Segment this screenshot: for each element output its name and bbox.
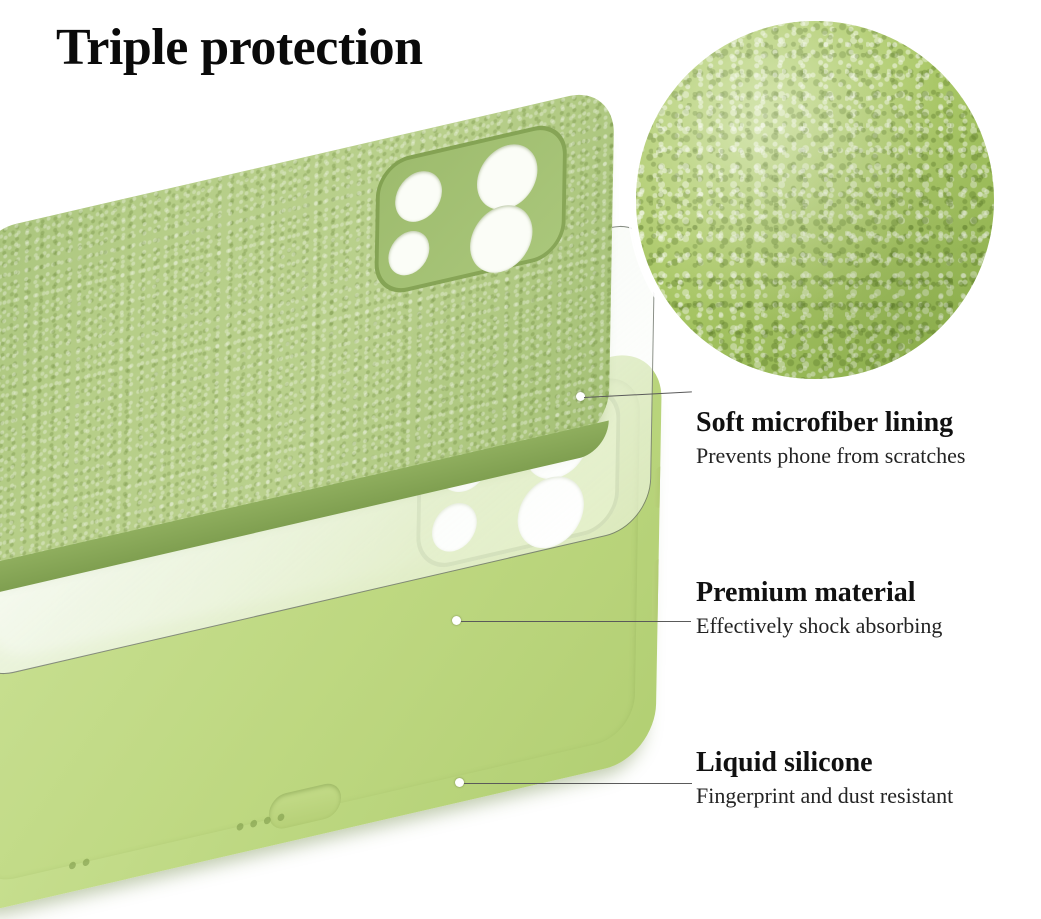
volume-button-bump [654, 465, 663, 509]
power-button-bump [652, 558, 663, 625]
callout-dot-silicone [455, 778, 464, 787]
microfiber-sheen [636, 21, 994, 379]
feature-title: Liquid silicone [696, 748, 1036, 777]
feature-title: Soft microfiber lining [696, 408, 1036, 437]
page-title: Triple protection [56, 18, 423, 77]
infographic-canvas: Triple protection [0, 0, 1041, 842]
camera-lens-cutout [388, 227, 430, 280]
feature-block-soft-microfiber-lining: Soft microfiber lining Prevents phone fr… [696, 408, 1036, 470]
callout-dot-premium [452, 616, 461, 625]
feature-block-premium-material: Premium material Effectively shock absor… [696, 578, 1036, 640]
feature-subtitle: Fingerprint and dust resistant [696, 783, 1036, 809]
microfiber-texture-closeup [629, 14, 1001, 386]
feature-subtitle: Prevents phone from scratches [696, 443, 1036, 469]
feature-block-liquid-silicone: Liquid silicone Fingerprint and dust res… [696, 748, 1036, 810]
feature-subtitle: Effectively shock absorbing [696, 613, 1036, 639]
leader-line-premium [461, 621, 691, 622]
camera-lens-cutout [395, 166, 443, 226]
feature-title: Premium material [696, 578, 1036, 607]
leader-line-silicone [464, 783, 692, 784]
